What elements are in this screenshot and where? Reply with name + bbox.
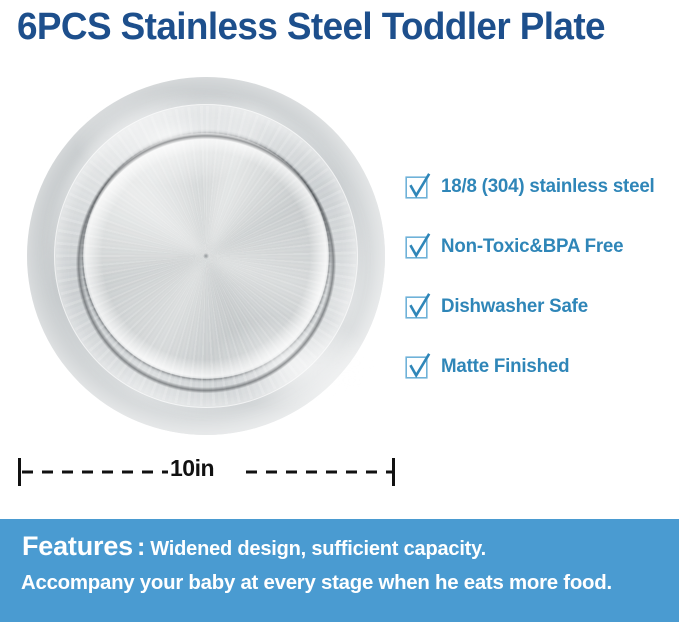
banner-line1-text: Widened design, sufficient capacity.	[150, 538, 486, 560]
features-banner: Features:Widened design, sufficient capa…	[0, 519, 679, 622]
feature-item: 18/8 (304) stainless steel	[405, 156, 679, 216]
page-title: 6PCS Stainless Steel Toddler Plate	[17, 4, 648, 50]
checkbox-check-icon	[405, 293, 431, 319]
banner-second-line: Accompany your baby at every stage when …	[21, 571, 612, 595]
stainless-steel-plate-image	[27, 77, 385, 435]
plate-edge-shadow	[27, 77, 385, 435]
feature-label: Matte Finished	[441, 355, 569, 378]
banner-heading: Features	[22, 531, 133, 561]
checkbox-check-icon	[405, 233, 431, 259]
feature-item: Matte Finished	[405, 336, 679, 396]
banner-first-line: Features:Widened design, sufficient capa…	[22, 531, 486, 562]
feature-list: 18/8 (304) stainless steel Non-Toxic&BPA…	[405, 156, 679, 396]
feature-label: Dishwasher Safe	[441, 295, 588, 318]
banner-bottom-strip	[0, 622, 679, 629]
checkbox-check-icon	[405, 353, 431, 379]
checkbox-check-icon	[405, 173, 431, 199]
banner-colon: :	[133, 533, 150, 561]
feature-label: 18/8 (304) stainless steel	[441, 175, 655, 198]
dimension-label: 10in	[170, 455, 214, 482]
product-infographic: 6PCS Stainless Steel Toddler Plate 18/8 …	[0, 0, 679, 629]
feature-label: Non-Toxic&BPA Free	[441, 235, 623, 258]
feature-item: Non-Toxic&BPA Free	[405, 216, 679, 276]
feature-item: Dishwasher Safe	[405, 276, 679, 336]
